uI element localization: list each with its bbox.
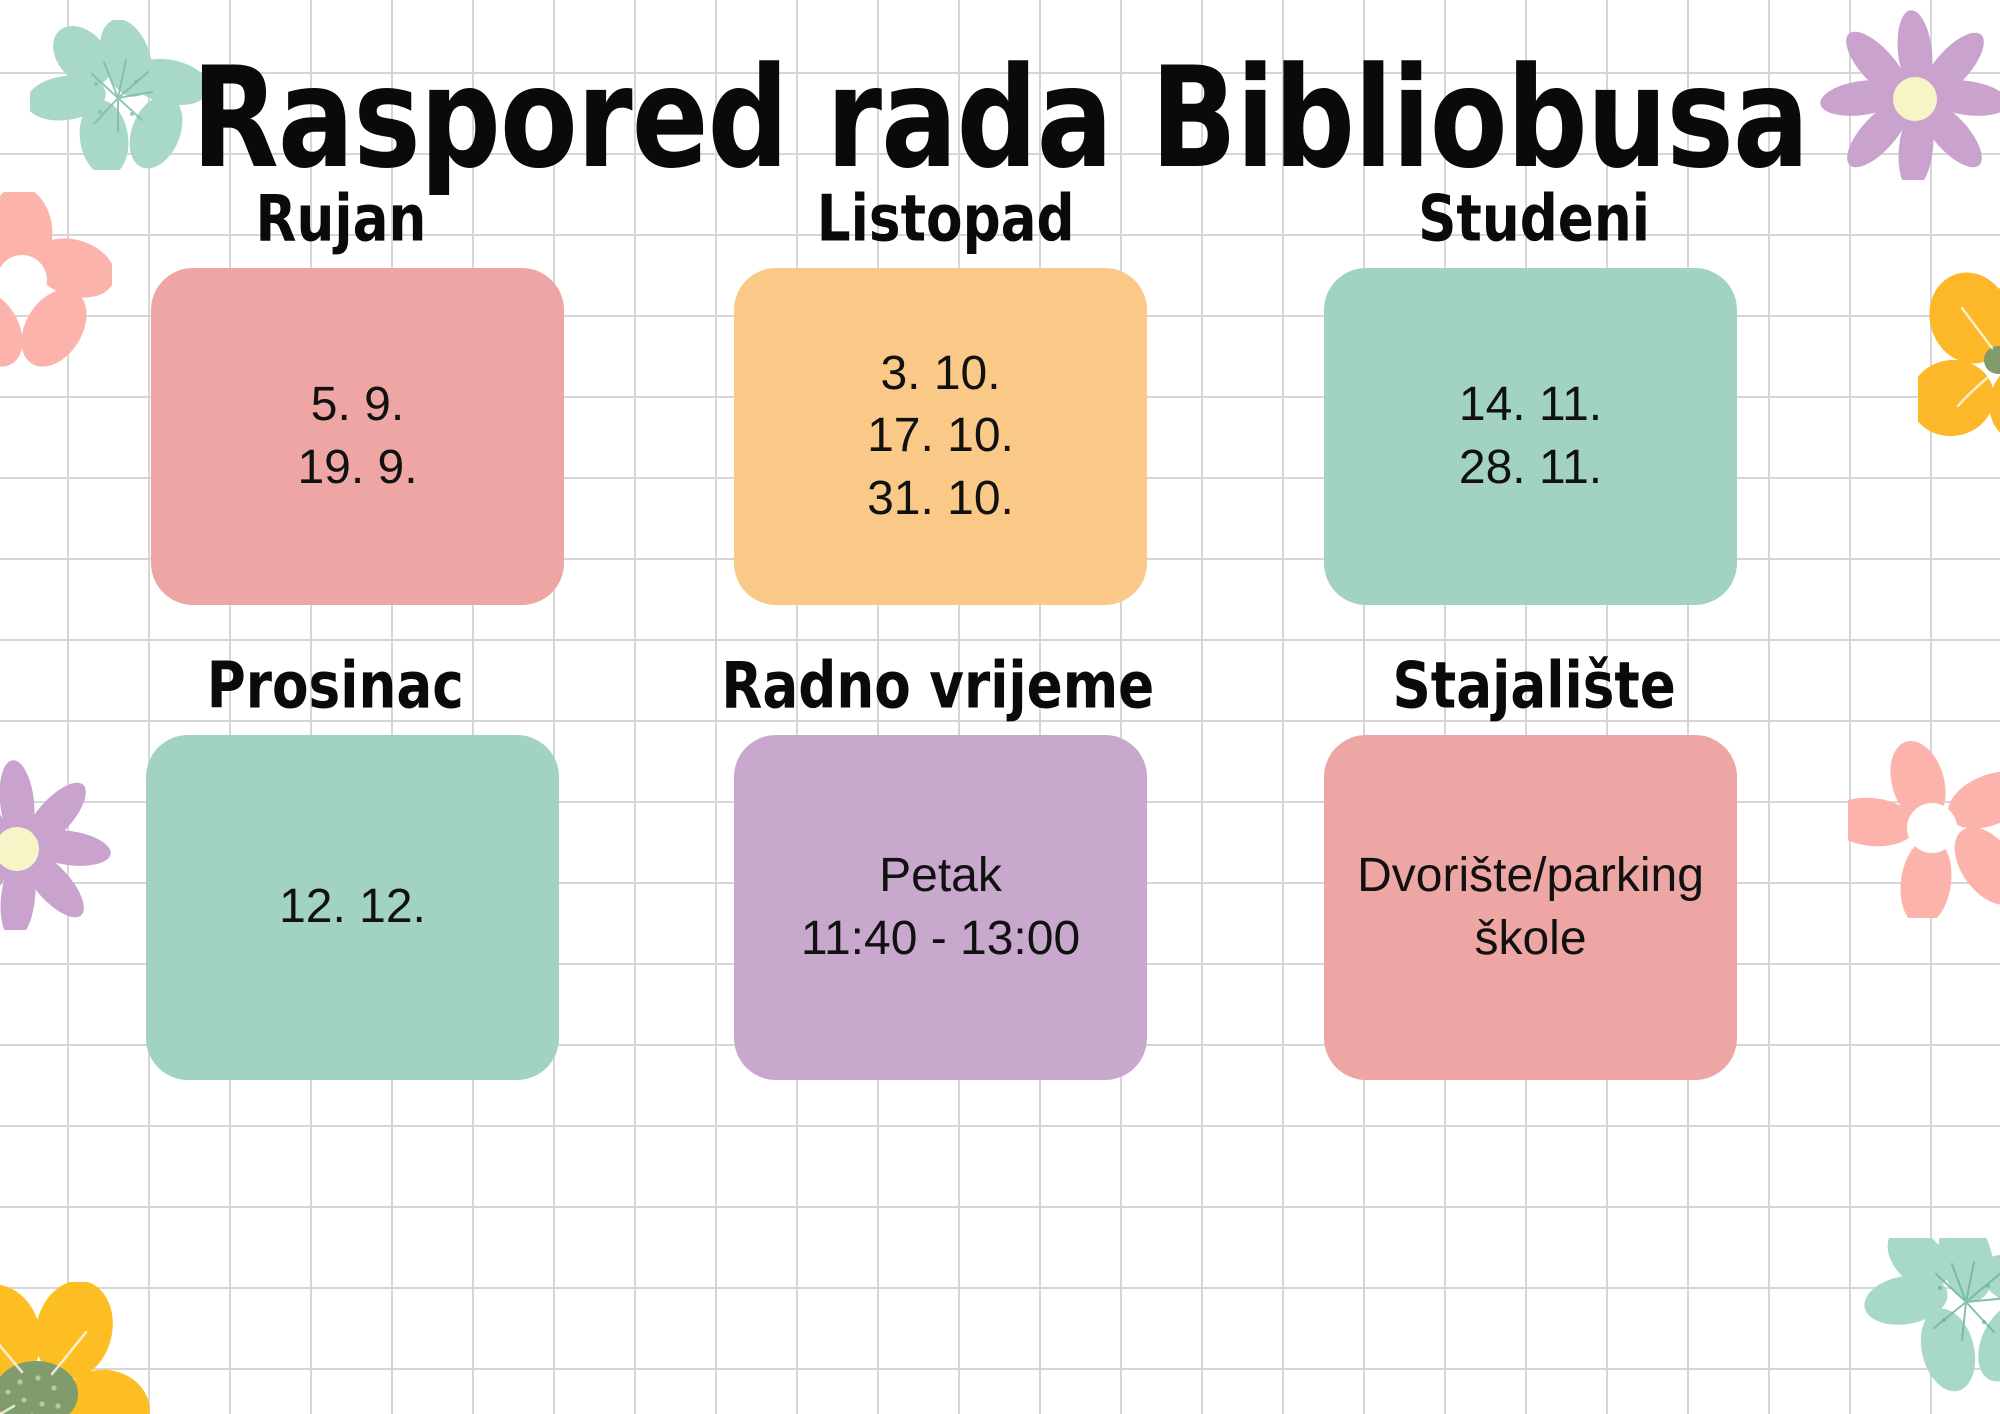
schedule-cell-listopad: Listopad 3. 10. 17. 10. 31. 10. [683, 196, 1198, 605]
page-title: Raspored rada Bibliobusa [40, 48, 1960, 187]
card-line: Dvorište/parking škole [1342, 845, 1719, 970]
schedule-cell-radno-vrijeme: Radno vrijeme Petak 11:40 - 13:00 [683, 663, 1198, 1080]
card-line: 5. 9. [311, 374, 404, 436]
card-line: 14. 11. [1459, 374, 1602, 436]
card-line: 12. 12. [279, 876, 426, 938]
schedule-cell-studeni: Studeni 14. 11. 28. 11. [1268, 196, 1783, 605]
schedule-grid: Rujan 5. 9. 19. 9. Listopad 3. 10. 17. 1… [0, 196, 2000, 1080]
poster-canvas: Raspored rada Bibliobusa Rujan 5. 9. 19.… [0, 0, 2000, 1414]
schedule-row-1: Rujan 5. 9. 19. 9. Listopad 3. 10. 17. 1… [0, 196, 2000, 605]
schedule-cell-stajaliste: Stajalište Dvorište/parking škole [1268, 663, 1783, 1080]
card-prosinac: 12. 12. [146, 735, 559, 1080]
card-listopad: 3. 10. 17. 10. 31. 10. [734, 268, 1147, 605]
card-studeni: 14. 11. 28. 11. [1324, 268, 1737, 605]
card-line: 11:40 - 13:00 [801, 908, 1080, 970]
yellow-sunflower-bottom-left-icon [0, 1282, 168, 1414]
card-line: 17. 10. [867, 405, 1014, 467]
card-caption-prosinac: Prosinac [207, 655, 464, 719]
schedule-cell-rujan: Rujan 5. 9. 19. 9. [100, 196, 615, 605]
card-line: 31. 10. [867, 468, 1014, 530]
card-line: 28. 11. [1459, 437, 1602, 499]
card-caption-radno-vrijeme: Radno vrijeme [721, 655, 1154, 719]
card-line: 3. 10. [880, 343, 1000, 405]
schedule-cell-prosinac: Prosinac 12. 12. [100, 663, 615, 1080]
schedule-row-2: Prosinac 12. 12. Radno vrijeme Petak 11:… [0, 663, 2000, 1080]
card-line: Petak [879, 845, 1002, 907]
card-rujan: 5. 9. 19. 9. [151, 268, 564, 605]
mint-flower-bottom-right-icon [1862, 1238, 2000, 1414]
card-line: 19. 9. [297, 437, 417, 499]
card-caption-stajaliste: Stajalište [1393, 655, 1676, 719]
card-radno-vrijeme: Petak 11:40 - 13:00 [734, 735, 1147, 1080]
card-stajaliste: Dvorište/parking škole [1324, 735, 1737, 1080]
